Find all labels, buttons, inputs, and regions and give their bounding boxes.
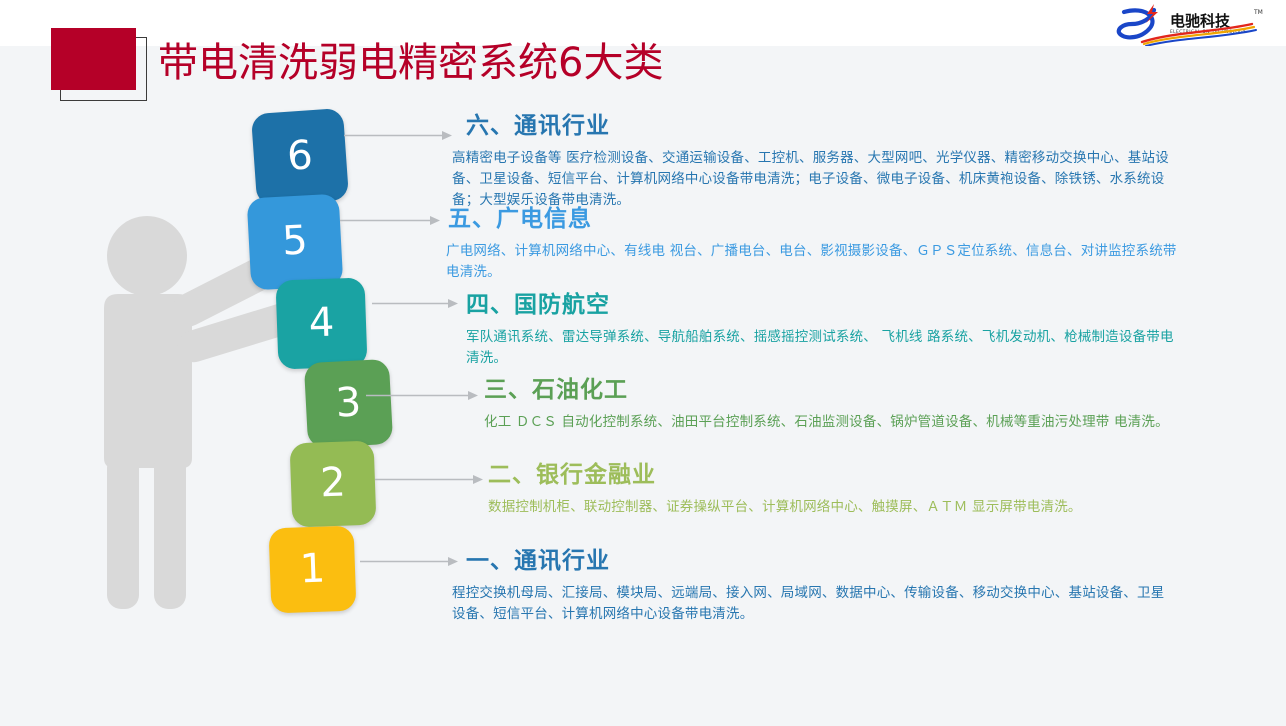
- number-block-3[interactable]: 3: [304, 359, 393, 448]
- arrow-to-entry-4: [372, 294, 458, 305]
- entry-body-1: 程控交换机母局、汇接局、模块局、远端局、接入网、局域网、数据中心、传输设备、移动…: [452, 583, 1172, 625]
- entry-body-5: 广电网络、计算机网络中心、有线电 视台、广播电台、电台、影视摄影设备、ＧＰＳ定位…: [446, 241, 1182, 283]
- block-number-label: 1: [299, 548, 326, 589]
- svg-text:电驰科技: 电驰科技: [1170, 12, 1231, 30]
- page-title: 带电清洗弱电精密系统6大类: [158, 38, 663, 88]
- entry-body-3: 化工 ＤＣＳ 自动化控制系统、油田平台控制系统、石油监测设备、锅炉管道设备、机械…: [484, 412, 1184, 433]
- entry-body-2: 数据控制机柜、联动控制器、证券操纵平台、计算机网络中心、触摸屏、ＡＴＭ 显示屏带…: [488, 497, 1128, 518]
- slide-canvas: 电驰科技 ELECTRICAL ON TECHNOLOGY TM 带电清洗弱电精…: [0, 0, 1286, 726]
- entry-heading-6: 六、通讯行业: [466, 112, 610, 140]
- company-logo: 电驰科技 ELECTRICAL ON TECHNOLOGY TM: [1112, 2, 1272, 46]
- entry-heading-4: 四、国防航空: [466, 291, 610, 319]
- number-block-5[interactable]: 5: [247, 194, 344, 291]
- entry-heading-5: 五、广电信息: [448, 205, 592, 233]
- number-block-2[interactable]: 2: [290, 441, 377, 528]
- number-block-1[interactable]: 1: [269, 526, 357, 614]
- block-number-label: 4: [308, 302, 335, 343]
- entry-body-4: 军队通讯系统、雷达导弹系统、导航船舶系统、摇感摇控测试系统、 飞机线 路系统、飞…: [466, 327, 1182, 369]
- entry-heading-3: 三、石油化工: [484, 376, 628, 404]
- entry-body-6: 高精密电子设备等 医疗检测设备、交通运输设备、工控机、服务器、大型网吧、光学仪器…: [452, 148, 1180, 211]
- arrow-to-entry-1: [360, 552, 458, 563]
- entry-heading-1: 一、通讯行业: [466, 547, 610, 575]
- number-block-4[interactable]: 4: [275, 277, 367, 369]
- entry-heading-2: 二、银行金融业: [488, 461, 656, 489]
- arrow-to-entry-5: [340, 211, 440, 222]
- title-mark: [51, 28, 136, 90]
- arrow-to-entry-2: [375, 470, 483, 481]
- number-block-6[interactable]: 6: [251, 108, 349, 206]
- arrow-to-entry-6: [344, 126, 452, 137]
- block-number-label: 3: [335, 382, 363, 423]
- block-number-label: 6: [286, 135, 314, 177]
- svg-text:TM: TM: [1253, 9, 1263, 16]
- arrow-to-entry-3: [366, 386, 478, 397]
- block-number-label: 5: [281, 220, 309, 261]
- block-number-label: 2: [320, 463, 347, 504]
